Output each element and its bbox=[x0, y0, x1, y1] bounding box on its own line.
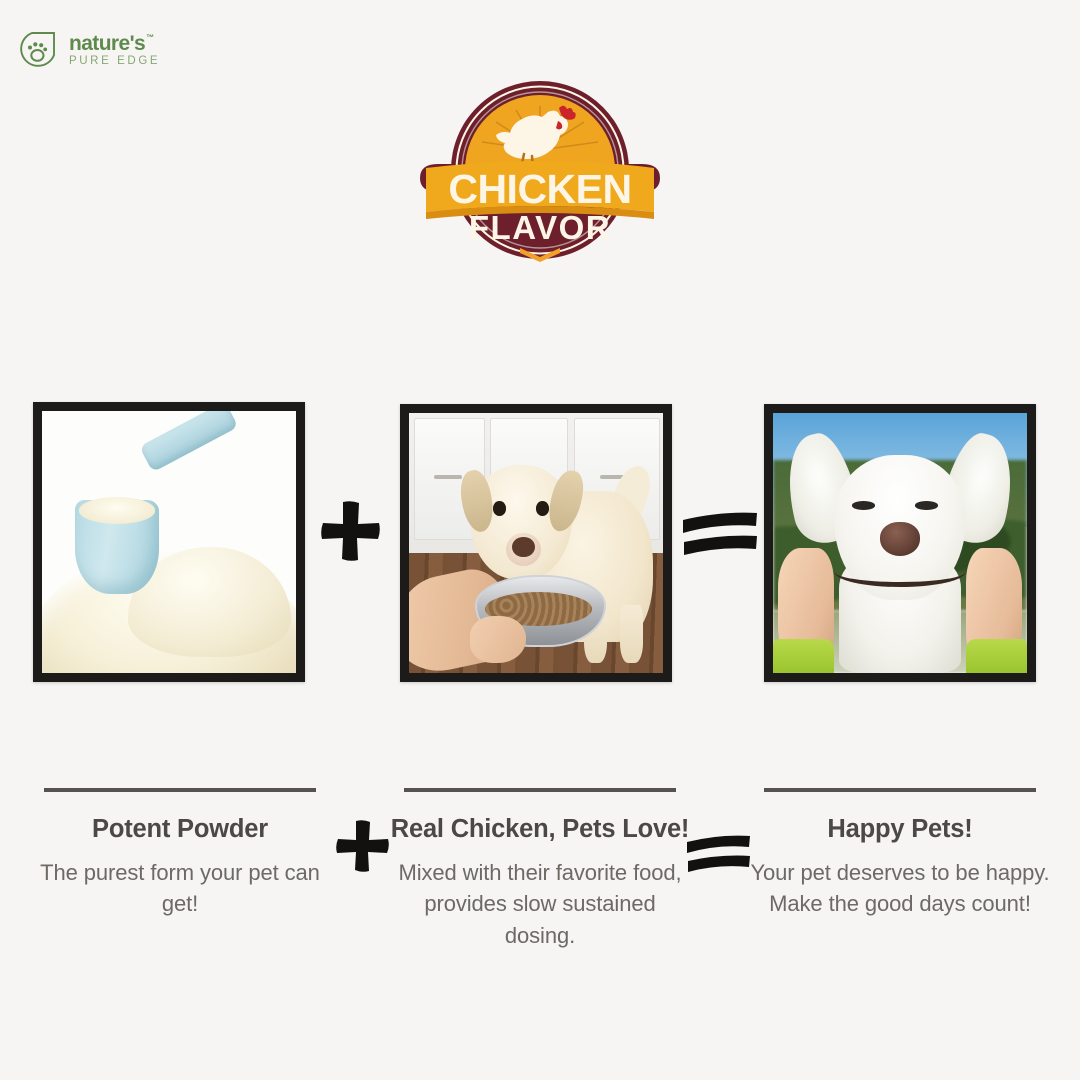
caption-divider bbox=[764, 788, 1036, 792]
caption-body: Your pet deserves to be happy. Make the … bbox=[738, 857, 1062, 919]
flavor-badge-banner-text: CHICKEN bbox=[448, 166, 631, 212]
caption-column-potent-powder: Potent Powder The purest form your pet c… bbox=[0, 788, 360, 951]
caption-divider bbox=[44, 788, 316, 792]
brand-name: nature's bbox=[69, 33, 145, 54]
flavor-badge-subtitle: FLAVOR bbox=[469, 209, 611, 246]
caption-row: Potent Powder The purest form your pet c… bbox=[0, 788, 1080, 951]
caption-column-real-chicken: Real Chicken, Pets Love! Mixed with thei… bbox=[360, 788, 720, 951]
chicken-flavor-badge: FLAVOR CHICKEN bbox=[408, 72, 672, 268]
equals-operator-icon-top bbox=[680, 508, 760, 558]
plus-operator-icon-bottom bbox=[334, 818, 392, 876]
caption-body: The purest form your pet can get! bbox=[18, 857, 342, 919]
caption-title: Real Chicken, Pets Love! bbox=[378, 814, 702, 845]
equals-operator-icon-bottom bbox=[684, 832, 752, 874]
caption-column-happy-pets: Happy Pets! Your pet deserves to be happ… bbox=[720, 788, 1080, 951]
caption-body: Mixed with their favorite food, provides… bbox=[378, 857, 702, 951]
caption-title: Happy Pets! bbox=[738, 814, 1062, 845]
brand-wordmark: nature's ™ PURE EDGE bbox=[69, 33, 160, 70]
caption-divider bbox=[404, 788, 676, 792]
powder-scoop-photo bbox=[33, 402, 305, 682]
dog-food-bowl-photo bbox=[400, 404, 672, 682]
product-story-image-row bbox=[0, 402, 1080, 684]
leaf-paw-logo-icon bbox=[14, 28, 60, 74]
caption-title: Potent Powder bbox=[18, 814, 342, 845]
brand-tagline: PURE EDGE bbox=[69, 56, 160, 68]
brand-trademark: ™ bbox=[146, 34, 154, 42]
brand-logo: nature's ™ PURE EDGE bbox=[14, 28, 160, 74]
happy-dog-photo bbox=[764, 404, 1036, 682]
plus-operator-icon-top bbox=[318, 498, 384, 564]
